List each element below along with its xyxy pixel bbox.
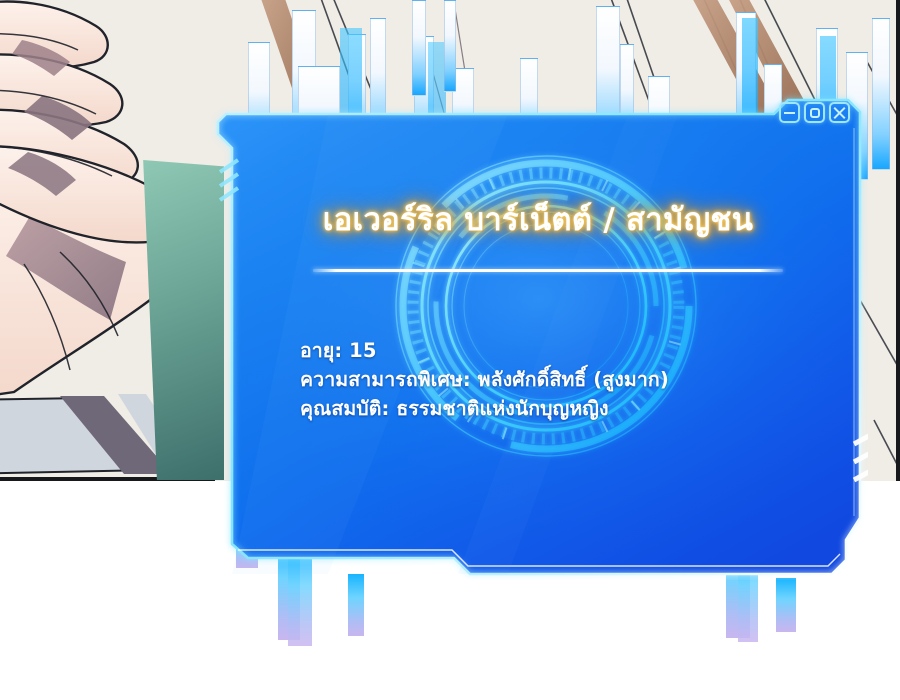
stat-special-ability: ความสามารถพิเศษ: พลังศักดิ์สิทธิ์ (สูงมา… (300, 365, 830, 394)
minimize-icon (784, 112, 795, 114)
deco-bar-top (872, 18, 890, 170)
deco-bar-top (444, 0, 456, 92)
stat-age: อายุ: 15 (300, 336, 830, 365)
status-window[interactable]: เอเวอร์ริล บาร์เน็ตต์ / สามัญชน อายุ: 15… (208, 88, 868, 580)
character-stats-list: อายุ: 15 ความสามารถพิเศษ: พลังศักดิ์สิทธ… (300, 336, 830, 423)
status-window-content: เอเวอร์ริล บาร์เน็ตต์ / สามัญชน อายุ: 15… (208, 88, 868, 580)
deco-bar-top (412, 0, 426, 96)
screenshot-root: เอเวอร์ริล บาร์เน็ตต์ / สามัญชน อายุ: 15… (0, 0, 900, 700)
title-divider (313, 269, 783, 272)
character-title: เอเวอร์ริล บาร์เน็ตต์ / สามัญชน (208, 203, 868, 239)
stat-attribute: คุณสมบัติ: ธรรมชาติแห่งนักบุญหญิง (300, 394, 830, 423)
deco-bar-bottom (348, 574, 364, 636)
close-button[interactable] (829, 102, 850, 123)
maximize-button[interactable] (804, 102, 825, 123)
deco-bar-bottom (776, 578, 796, 632)
window-controls[interactable] (779, 102, 850, 123)
minimize-button[interactable] (779, 102, 800, 123)
maximize-icon (810, 108, 820, 118)
